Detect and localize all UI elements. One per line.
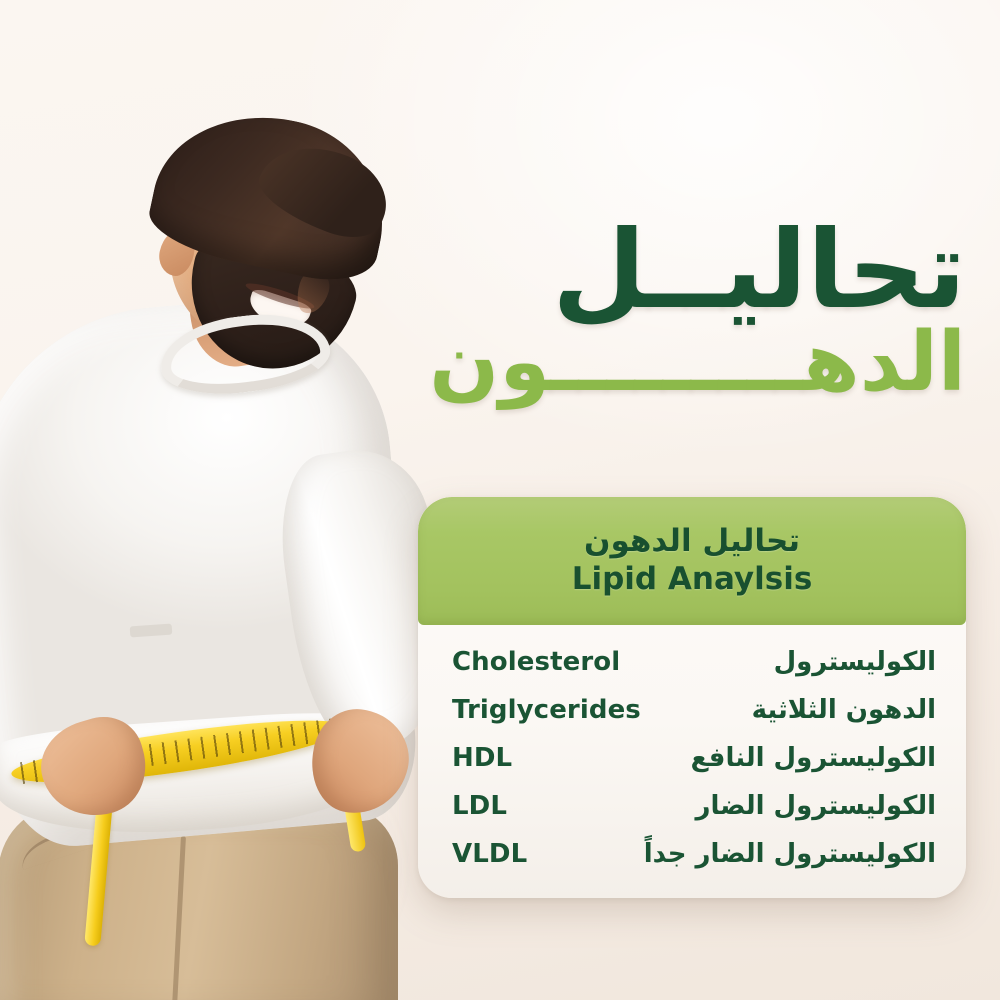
table-row: Cholesterol الكوليسترول (452, 647, 936, 695)
headline-line-2: الدهـــــــــون (406, 322, 966, 404)
test-name-arabic: الدهون الثلاثية (752, 695, 936, 725)
card-header: تحاليل الدهون Lipid Anaylsis (418, 497, 966, 625)
card-header-english-title: Lipid Anaylsis (572, 562, 813, 598)
test-name-english: Cholesterol (452, 647, 620, 677)
table-row: VLDL الكوليسترول الضار جداً (452, 839, 936, 887)
card-body: Cholesterol الكوليسترول Triglycerides ال… (418, 625, 966, 887)
lipid-panel-card: تحاليل الدهون Lipid Anaylsis Cholesterol… (418, 497, 966, 898)
headline: تحاليــل الدهـــــــــون (406, 216, 966, 404)
test-name-arabic: الكوليسترول الضار جداً (644, 839, 936, 869)
test-name-arabic: الكوليسترول (774, 647, 936, 677)
table-row: HDL الكوليسترول النافع (452, 743, 936, 791)
table-row: Triglycerides الدهون الثلاثية (452, 695, 936, 743)
poster-root: تحاليــل الدهـــــــــون تحاليل الدهون L… (0, 0, 1000, 1000)
test-name-english: Triglycerides (452, 695, 641, 725)
test-name-arabic: الكوليسترول الضار (695, 791, 936, 821)
test-name-english: LDL (452, 791, 507, 821)
table-row: LDL الكوليسترول الضار (452, 791, 936, 839)
test-name-english: VLDL (452, 839, 527, 869)
test-name-english: HDL (452, 743, 512, 773)
card-header-arabic-title: تحاليل الدهون (584, 524, 800, 560)
test-name-arabic: الكوليسترول النافع (691, 743, 936, 773)
headline-line-1: تحاليــل (406, 216, 966, 326)
